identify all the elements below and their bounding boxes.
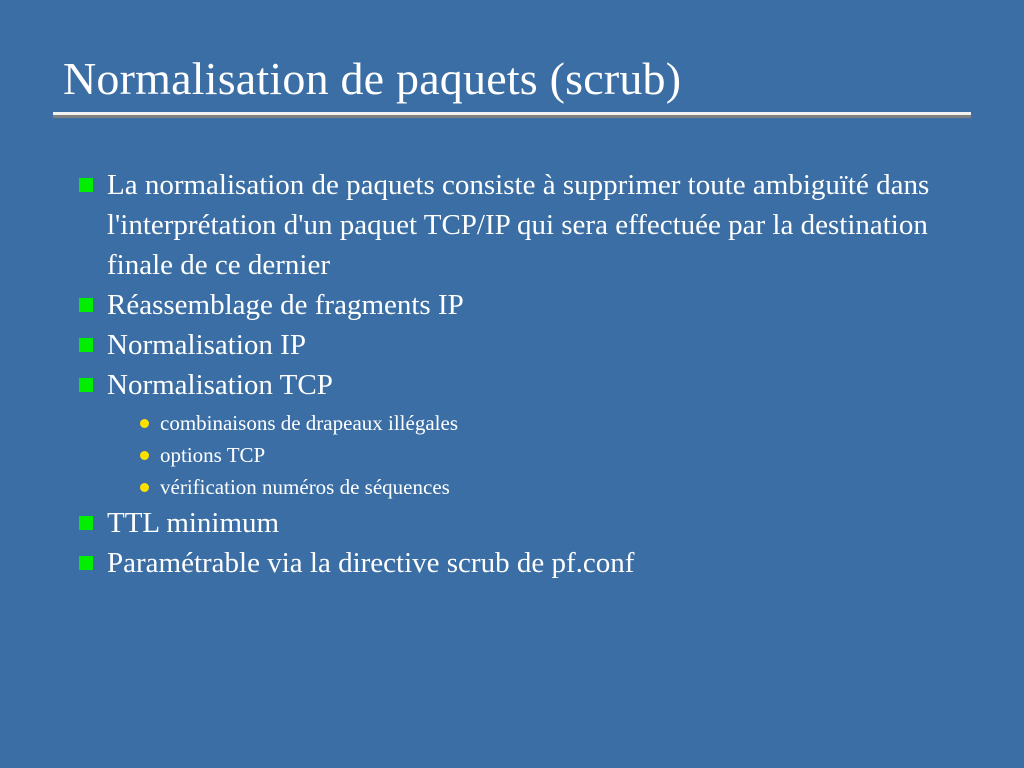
title-block: Normalisation de paquets (scrub) [53, 52, 971, 118]
slide-body: La normalisation de paquets consiste à s… [79, 165, 959, 583]
list-item: Réassemblage de fragments IP [79, 285, 959, 325]
list-item: La normalisation de paquets consiste à s… [79, 165, 959, 285]
list-item-label: Réassemblage de fragments IP [107, 285, 959, 325]
sub-list-item: combinaisons de drapeaux illégales [140, 407, 959, 439]
list-item: Normalisation IP [79, 325, 959, 365]
square-bullet-icon [79, 338, 93, 352]
dot-bullet-icon [140, 451, 149, 460]
square-bullet-icon [79, 378, 93, 392]
list-item-label: Paramétrable via la directive scrub de p… [107, 543, 959, 583]
slide: Normalisation de paquets (scrub) La norm… [0, 0, 1024, 768]
square-bullet-icon [79, 298, 93, 312]
title-underline-rule [53, 112, 971, 118]
sub-list-item: vérification numéros de séquences [140, 471, 959, 503]
dot-bullet-icon [140, 419, 149, 428]
list-item: TTL minimum [79, 503, 959, 543]
sub-bullet-list: combinaisons de drapeaux illégales optio… [107, 407, 959, 503]
list-item-label: La normalisation de paquets consiste à s… [107, 165, 937, 285]
list-item: Normalisation TCP combinaisons de drapea… [79, 365, 959, 503]
square-bullet-icon [79, 556, 93, 570]
square-bullet-icon [79, 178, 93, 192]
bullet-list: La normalisation de paquets consiste à s… [79, 165, 959, 583]
list-item-label: Normalisation IP [107, 325, 959, 365]
square-bullet-icon [79, 516, 93, 530]
sub-list-item-label: combinaisons de drapeaux illégales [160, 407, 959, 439]
list-item-label: Normalisation TCP [107, 365, 959, 405]
page-title: Normalisation de paquets (scrub) [53, 52, 971, 106]
dot-bullet-icon [140, 483, 149, 492]
sub-list-item-label: vérification numéros de séquences [160, 471, 959, 503]
sub-list-item: options TCP [140, 439, 959, 471]
list-item: Paramétrable via la directive scrub de p… [79, 543, 959, 583]
list-item-label: TTL minimum [107, 503, 959, 543]
sub-list-item-label: options TCP [160, 439, 959, 471]
